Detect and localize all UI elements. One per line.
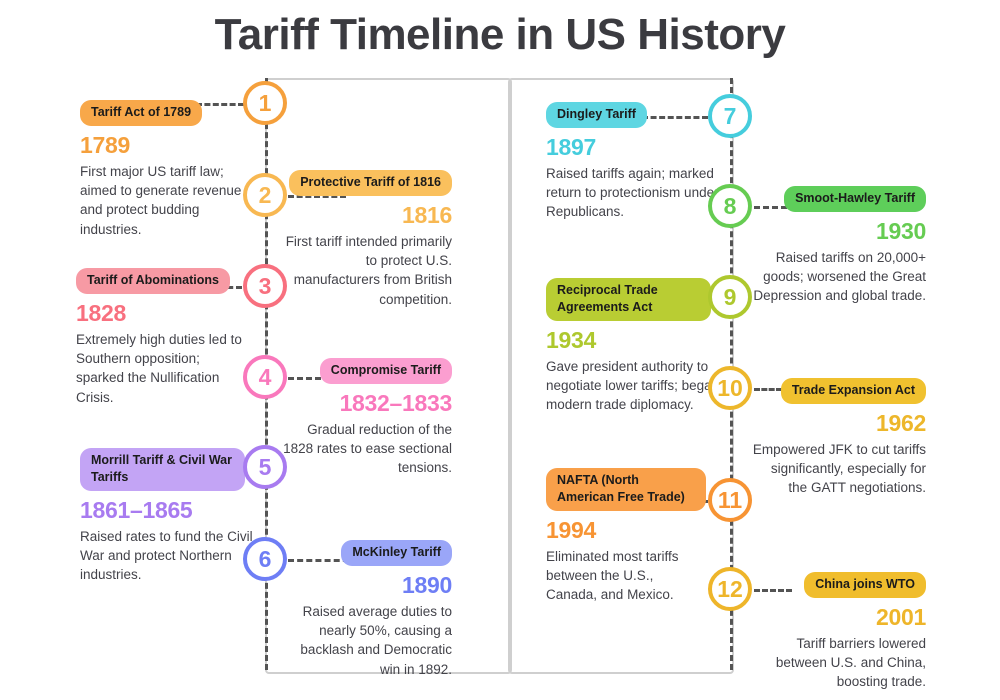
entry-badge-9: Reciprocal Trade Agreements Act — [546, 278, 711, 321]
entry-description-6: Raised average duties to nearly 50%, cau… — [277, 602, 452, 679]
timeline-entry-8[interactable]: Smoot-Hawley Tariff1930Raised tariffs on… — [751, 186, 926, 306]
entry-year-5: 1861–1865 — [80, 498, 260, 523]
entry-badge-8: Smoot-Hawley Tariff — [784, 186, 926, 212]
entry-badge-2: Protective Tariff of 1816 — [289, 170, 452, 196]
entry-description-12: Tariff barriers lowered between U.S. and… — [751, 634, 926, 691]
entry-description-1: First major US tariff law; aimed to gene… — [80, 162, 255, 239]
timeline-entry-1[interactable]: Tariff Act of 17891789First major US tar… — [80, 100, 255, 239]
entry-year-1: 1789 — [80, 133, 255, 158]
timeline-node-9[interactable]: 9 — [708, 275, 752, 319]
timeline-entry-6[interactable]: McKinley Tariff1890Raised average duties… — [277, 540, 452, 679]
entry-badge-3: Tariff of Abominations — [76, 268, 230, 294]
timeline-entry-3[interactable]: Tariff of Abominations1828Extremely high… — [76, 268, 251, 407]
entry-description-5: Raised rates to fund the Civil War and p… — [80, 527, 255, 584]
entry-badge-4: Compromise Tariff — [320, 358, 452, 384]
timeline-node-7[interactable]: 7 — [708, 94, 752, 138]
timeline-entry-2[interactable]: Protective Tariff of 18161816First tarif… — [277, 170, 452, 309]
timeline-entry-9[interactable]: Reciprocal Trade Agreements Act1934Gave … — [546, 278, 721, 415]
timeline-node-3[interactable]: 3 — [243, 264, 287, 308]
timeline-node-8[interactable]: 8 — [708, 184, 752, 228]
entry-badge-12: China joins WTO — [804, 572, 926, 598]
entry-year-9: 1934 — [546, 328, 721, 353]
entry-description-10: Empowered JFK to cut tariffs significant… — [751, 440, 926, 497]
entry-description-8: Raised tariffs on 20,000+ goods; worsene… — [751, 248, 926, 305]
entry-year-12: 2001 — [751, 605, 926, 630]
timeline-node-1[interactable]: 1 — [243, 81, 287, 125]
entry-year-11: 1994 — [546, 518, 706, 543]
timeline-node-5[interactable]: 5 — [243, 445, 287, 489]
timeline-node-6[interactable]: 6 — [243, 537, 287, 581]
timeline-entry-12[interactable]: China joins WTO2001Tariff barriers lower… — [751, 572, 926, 692]
entry-badge-6: McKinley Tariff — [341, 540, 452, 566]
timeline-node-2[interactable]: 2 — [243, 173, 287, 217]
entry-year-4: 1832–1833 — [277, 391, 452, 416]
entry-description-9: Gave president authority to negotiate lo… — [546, 357, 721, 414]
entry-year-8: 1930 — [751, 219, 926, 244]
entry-description-2: First tariff intended primarily to prote… — [277, 232, 452, 309]
timeline-entry-11[interactable]: NAFTA (North American Free Trade)1994Eli… — [546, 468, 706, 605]
entry-badge-1: Tariff Act of 1789 — [80, 100, 202, 126]
entry-year-6: 1890 — [277, 573, 452, 598]
timeline-entry-4[interactable]: Compromise Tariff1832–1833Gradual reduct… — [277, 358, 452, 478]
entry-year-10: 1962 — [751, 411, 926, 436]
timeline-node-4[interactable]: 4 — [243, 355, 287, 399]
timeline-entry-7[interactable]: Dingley Tariff1897Raised tariffs again; … — [546, 102, 721, 222]
entry-description-3: Extremely high duties led to Southern op… — [76, 330, 251, 407]
entry-year-7: 1897 — [546, 135, 721, 160]
entry-year-3: 1828 — [76, 301, 251, 326]
timeline-node-12[interactable]: 12 — [708, 567, 752, 611]
entry-badge-5: Morrill Tariff & Civil War Tariffs — [80, 448, 245, 491]
timeline-entry-10[interactable]: Trade Expansion Act1962Empowered JFK to … — [751, 378, 926, 498]
entry-description-7: Raised tariffs again; marked return to p… — [546, 164, 721, 221]
entry-description-11: Eliminated most tariffs between the U.S.… — [546, 547, 706, 604]
timeline-node-11[interactable]: 11 — [708, 478, 752, 522]
tariff-timeline-infographic: Tariff Timeline in US History 1234567891… — [0, 0, 1000, 700]
entry-badge-11: NAFTA (North American Free Trade) — [546, 468, 706, 511]
entry-badge-10: Trade Expansion Act — [781, 378, 926, 404]
entry-badge-7: Dingley Tariff — [546, 102, 647, 128]
timeline-entry-5[interactable]: Morrill Tariff & Civil War Tariffs1861–1… — [80, 448, 260, 585]
entry-year-2: 1816 — [277, 203, 452, 228]
timeline-node-10[interactable]: 10 — [708, 366, 752, 410]
page-title: Tariff Timeline in US History — [0, 10, 1000, 60]
entry-description-4: Gradual reduction of the 1828 rates to e… — [277, 420, 452, 477]
